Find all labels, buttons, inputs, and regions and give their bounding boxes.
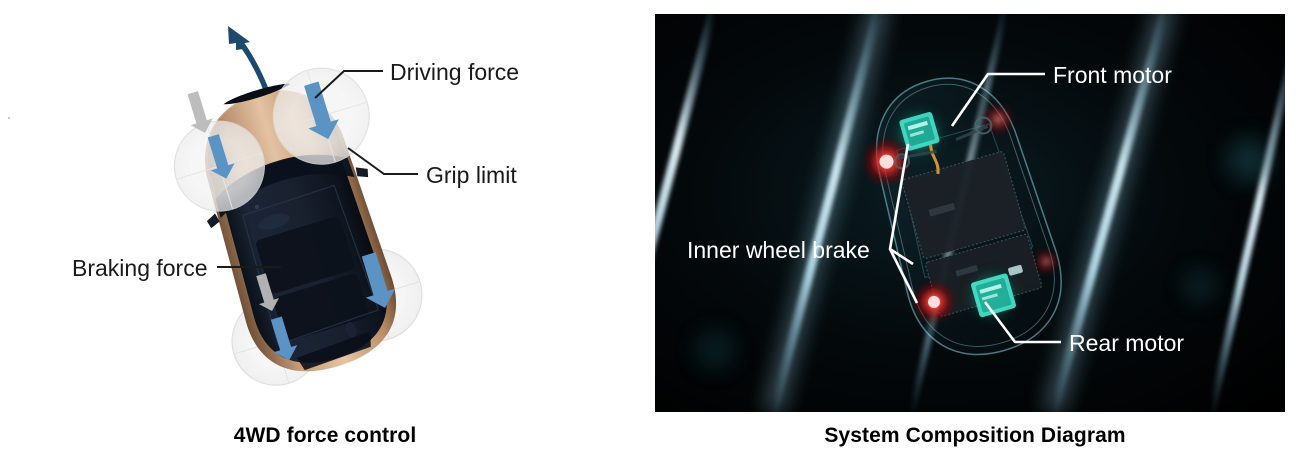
panel-4wd-force-control: Driving force Grip limit Braking force 4… [0, 0, 650, 469]
heading-arrow-icon [228, 26, 268, 95]
label-inner-wheel-brake: Inner wheel brake [687, 237, 870, 263]
label-driving-force: Driving force [390, 59, 519, 85]
label-braking-force: Braking force [72, 255, 208, 281]
panel-system-composition: Front motor Inner wheel brake Rear motor… [650, 0, 1300, 469]
stray-speck [8, 117, 10, 119]
label-rear-motor: Rear motor [1069, 330, 1184, 356]
figure-root: Driving force Grip limit Braking force 4… [0, 0, 1300, 469]
caption-system-composition: System Composition Diagram [650, 424, 1300, 448]
left-diagram-stage: Driving force Grip limit Braking force [0, 0, 650, 415]
label-front-motor: Front motor [1053, 62, 1172, 88]
label-grip-limit: Grip limit [426, 162, 517, 188]
system-composition-diagram: Front motor Inner wheel brake Rear motor [655, 14, 1285, 412]
car-top-view [154, 45, 440, 398]
system-composition-photo: Front motor Inner wheel brake Rear motor [655, 14, 1285, 412]
4wd-force-control-diagram: Driving force Grip limit Braking force [0, 0, 650, 415]
caption-4wd-force-control: 4WD force control [0, 424, 650, 448]
